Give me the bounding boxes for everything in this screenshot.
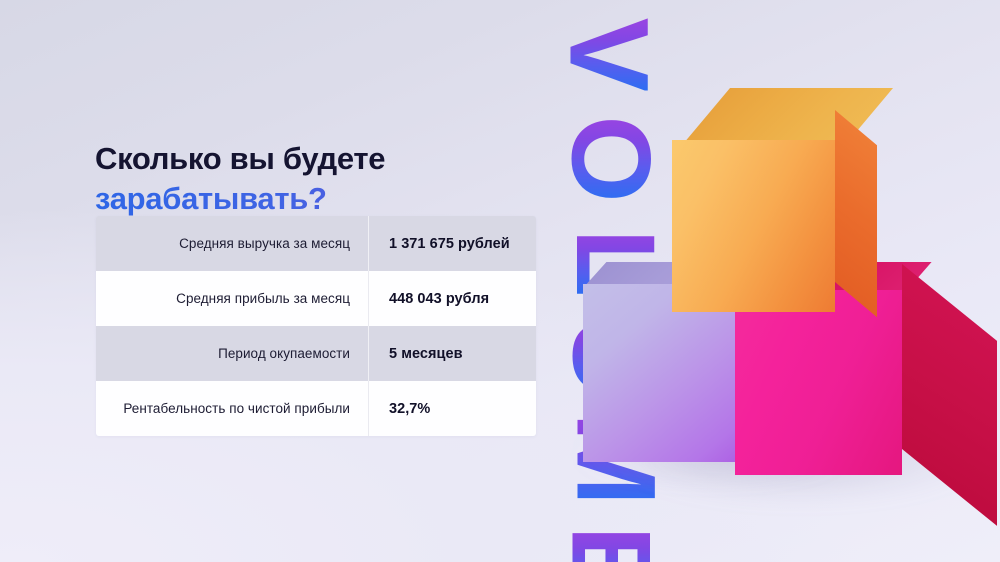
orange-cube-side-face — [835, 110, 877, 317]
slide-canvas: V O L U M E Сколько вы будете зарабатыва… — [0, 0, 1000, 562]
orange-cube — [672, 88, 892, 318]
orange-cube-front-face — [672, 140, 835, 312]
pink-cube-side-face — [902, 264, 997, 526]
cube-illustration — [0, 0, 1000, 562]
